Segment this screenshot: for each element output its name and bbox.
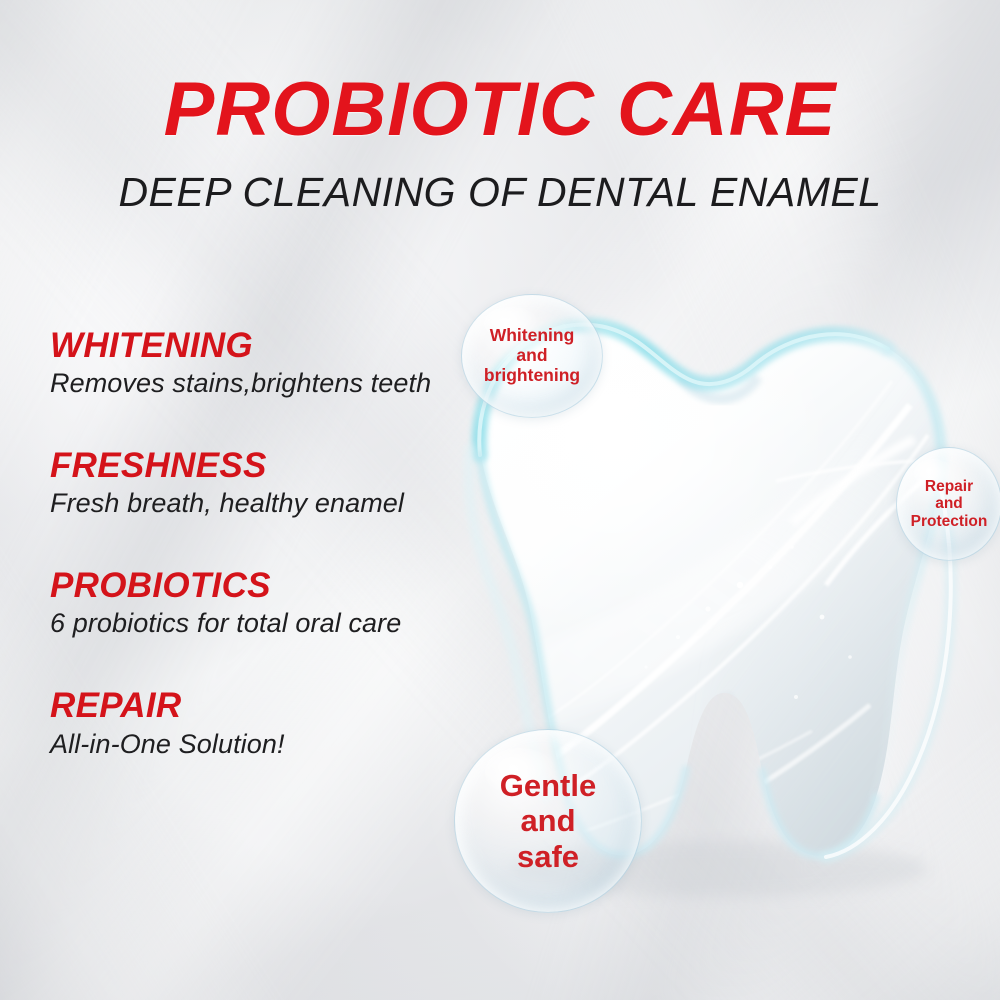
bubble-line: safe: [500, 839, 596, 874]
bubble-line: Gentle: [500, 768, 596, 803]
bubble-line: and: [500, 803, 596, 838]
feature-heading: REPAIR: [50, 686, 470, 725]
bubble-line: Whitening: [484, 326, 580, 346]
bubble-line: Protection: [911, 513, 988, 531]
bubble-repair-and-protection: Repair and Protection: [896, 447, 1000, 561]
feature-item-probiotics: PROBIOTICS 6 probiotics for total oral c…: [50, 566, 470, 640]
feature-heading: WHITENING: [50, 326, 470, 365]
bubble-whitening-and-brightening: Whitening and brightening: [461, 294, 603, 418]
feature-description: Removes stains,brightens teeth: [50, 367, 470, 400]
feature-heading: FRESHNESS: [50, 446, 470, 485]
feature-description: 6 probiotics for total oral care: [50, 607, 470, 640]
bubble-line: and: [484, 346, 580, 366]
feature-description: Fresh breath, healthy enamel: [50, 487, 470, 520]
poster-root: PROBIOTIC CARE DEEP CLEANING OF DENTAL E…: [0, 0, 1000, 1000]
page-subtitle: DEEP CLEANING OF DENTAL ENAMEL: [0, 172, 1000, 213]
bubble-line: and: [911, 495, 988, 513]
feature-item-repair: REPAIR All-in-One Solution!: [50, 686, 470, 760]
feature-item-freshness: FRESHNESS Fresh breath, healthy enamel: [50, 446, 470, 520]
feature-heading: PROBIOTICS: [50, 566, 470, 605]
bubble-gentle-and-safe: Gentle and safe: [454, 729, 642, 913]
feature-item-whitening: WHITENING Removes stains,brightens teeth: [50, 326, 470, 400]
bubble-line: brightening: [484, 366, 580, 386]
page-title: PROBIOTIC CARE: [0, 72, 1000, 148]
feature-description: All-in-One Solution!: [50, 728, 470, 761]
bubble-line: Repair: [911, 478, 988, 496]
feature-list: WHITENING Removes stains,brightens teeth…: [50, 326, 470, 761]
